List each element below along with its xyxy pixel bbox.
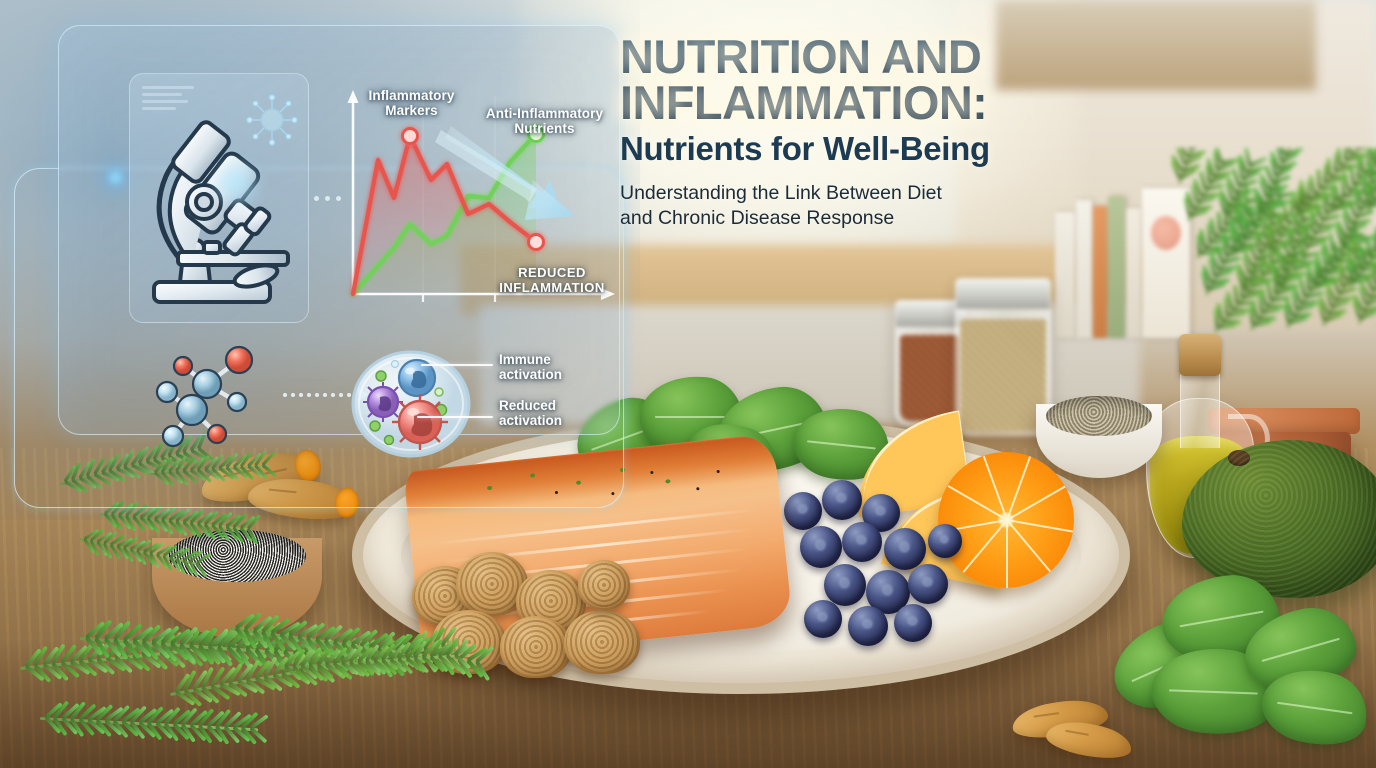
peppercorn-bowl — [1036, 396, 1162, 482]
title-block: NUTRITION AND INFLAMMATION: Nutrients fo… — [620, 34, 1100, 231]
page-title: NUTRITION AND INFLAMMATION: — [620, 34, 1100, 127]
chart-label-anti-inflammatory-nutrients: Anti-Inflammatory Nutrients — [477, 106, 612, 136]
spinach-leaves-table — [1112, 562, 1376, 762]
chart-label-reduced-inflammation: REDUCED INFLAMMATION — [477, 266, 627, 295]
microscope-light-core-icon — [209, 156, 265, 212]
microscope-icon — [132, 96, 312, 326]
page-description: Understanding the Link Between Diet and … — [620, 181, 1100, 231]
molecule-icon — [147, 344, 277, 454]
callout-leader-reduced — [417, 416, 493, 418]
inflammation-chart: Inflammatory Markers Anti-Inflammatory N… — [337, 76, 637, 326]
blueberries — [778, 478, 998, 648]
callout-label-immune-activation: Immune activation — [499, 352, 562, 383]
hologram-panel: Inflammatory Markers Anti-Inflammatory N… — [58, 25, 620, 435]
rosemary-sprigs — [20, 592, 480, 762]
callout-leader-immune — [421, 364, 493, 366]
callout-label-reduced-activation: Reduced activation — [499, 398, 562, 429]
page-subtitle: Nutrients for Well-Being — [620, 132, 1100, 166]
infographic-canvas: Inflammatory Markers Anti-Inflammatory N… — [0, 0, 1376, 768]
chart-label-inflammatory-markers: Inflammatory Markers — [359, 88, 464, 118]
